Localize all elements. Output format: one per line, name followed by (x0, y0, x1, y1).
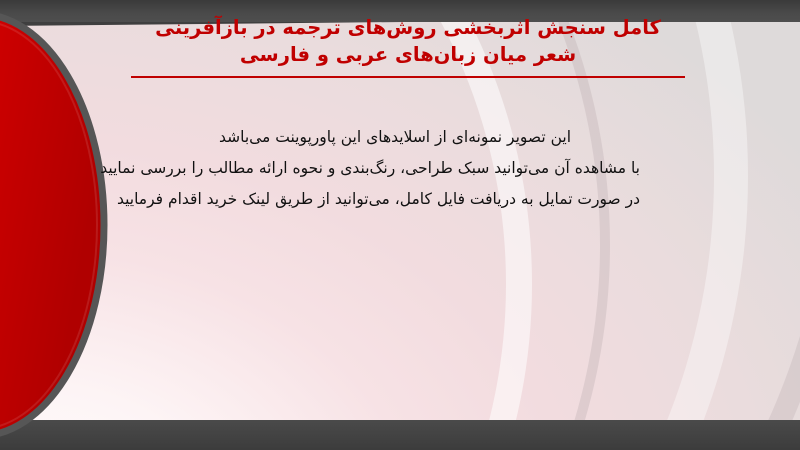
body-line-1: این تصویر نمونه‌ای از اسلایدهای این پاور… (150, 122, 640, 153)
title-line-2: شعر میان زبان‌های عربی و فارسی (130, 41, 686, 68)
title-line-1: کامل سنجش اثربخشی روش‌های ترجمه در بازآف… (130, 14, 686, 41)
title-underline-rule (131, 76, 685, 78)
red-lens-decoration (0, 12, 124, 438)
body-line-3: در صورت تمایل به دریافت فایل کامل، می‌تو… (150, 184, 640, 215)
slide-title: کامل سنجش اثربخشی روش‌های ترجمه در بازآف… (130, 14, 686, 68)
slide-body-text: این تصویر نمونه‌ای از اسلایدهای این پاور… (150, 122, 640, 215)
presentation-slide: کامل سنجش اثربخشی روش‌های ترجمه در بازآف… (0, 0, 800, 450)
body-line-2: با مشاهده آن می‌توانید سبک طراحی، رنگ‌بن… (150, 153, 640, 184)
